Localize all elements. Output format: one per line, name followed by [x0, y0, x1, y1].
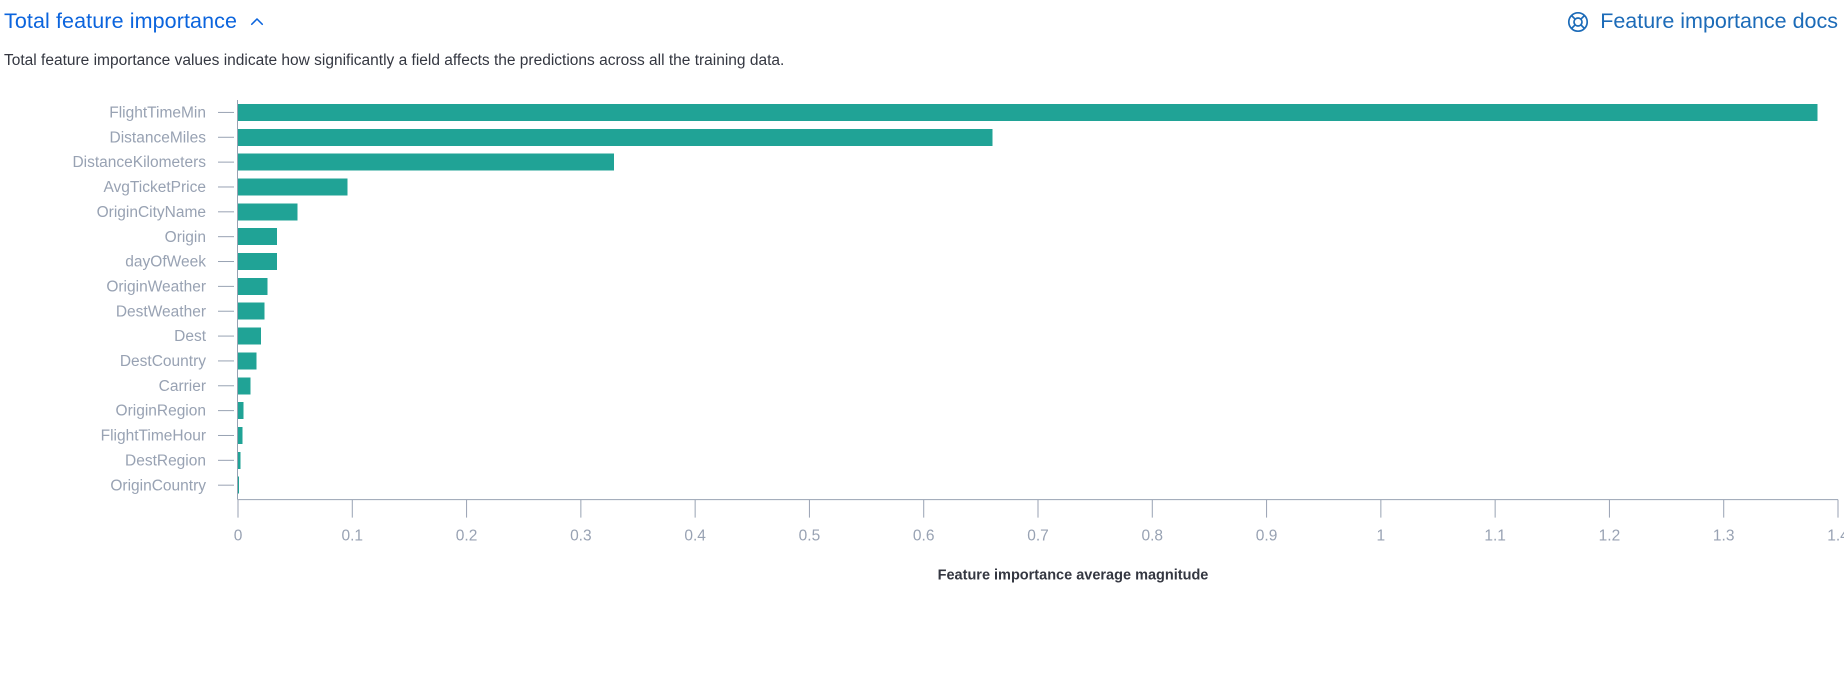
bar-distancemiles[interactable] — [238, 128, 992, 145]
bar-originweather[interactable] — [238, 278, 268, 295]
bar-destcountry[interactable] — [238, 352, 256, 369]
x-axis-tick-1.1: 1.1 — [1484, 527, 1506, 544]
bar-destregion[interactable] — [238, 452, 240, 469]
y-axis-label-avgticketprice: AvgTicketPrice — [103, 179, 206, 196]
bar-originregion[interactable] — [238, 402, 244, 419]
x-axis-tick-1: 1 — [1377, 527, 1386, 544]
x-axis-tick-0.8: 0.8 — [1142, 527, 1164, 544]
feature-importance-chart: FlightTimeMinDistanceMilesDistanceKilome… — [0, 90, 1844, 670]
x-axis-tick-0.1: 0.1 — [342, 527, 364, 544]
x-axis-tick-0.9: 0.9 — [1256, 527, 1278, 544]
y-axis-label-destregion: DestRegion — [125, 452, 206, 469]
x-axis-tick-0.4: 0.4 — [684, 527, 706, 544]
x-axis-title: Feature importance average magnitude — [938, 567, 1209, 583]
chevron-up-icon[interactable] — [248, 13, 266, 31]
bar-flighttimehour[interactable] — [238, 427, 243, 444]
bar-distancekilometers[interactable] — [238, 153, 614, 170]
bar-chart-svg: FlightTimeMinDistanceMilesDistanceKilome… — [0, 90, 1844, 670]
bar-dest[interactable] — [238, 327, 261, 344]
bar-origincountry[interactable] — [238, 476, 239, 493]
total-feature-importance-panel: Total feature importance Feature importa… — [0, 0, 1844, 680]
panel-title-toggle[interactable]: Total feature importance — [4, 9, 266, 35]
x-axis-tick-1.4: 1.4 — [1827, 527, 1844, 544]
y-axis-label-origincityname: OriginCityName — [97, 204, 206, 221]
y-axis-label-origin: Origin — [165, 228, 206, 245]
docs-link-label: Feature importance docs — [1600, 9, 1838, 35]
panel-header: Total feature importance Feature importa… — [0, 0, 1844, 38]
page-title: Total feature importance — [4, 9, 237, 35]
x-axis-tick-0.7: 0.7 — [1027, 527, 1049, 544]
x-axis-tick-0.6: 0.6 — [913, 527, 935, 544]
x-axis-tick-1.2: 1.2 — [1599, 527, 1621, 544]
x-axis-tick-1.3: 1.3 — [1713, 527, 1735, 544]
x-axis-tick-0.5: 0.5 — [799, 527, 821, 544]
y-axis-label-dest: Dest — [174, 328, 207, 345]
y-axis-label-originweather: OriginWeather — [106, 278, 206, 295]
y-axis-label-flighttimemin: FlightTimeMin — [109, 104, 206, 121]
y-axis-label-carrier: Carrier — [159, 378, 206, 395]
y-axis-label-destcountry: DestCountry — [120, 353, 206, 370]
x-axis-tick-0.2: 0.2 — [456, 527, 478, 544]
bar-avgticketprice[interactable] — [238, 178, 348, 195]
y-axis-label-destweather: DestWeather — [116, 303, 206, 320]
bar-flighttimemin[interactable] — [238, 104, 1817, 121]
feature-importance-docs-link[interactable]: Feature importance docs — [1566, 9, 1840, 35]
bar-carrier[interactable] — [238, 377, 251, 394]
panel-description: Total feature importance values indicate… — [0, 38, 1844, 72]
y-axis-label-originregion: OriginRegion — [116, 402, 206, 419]
bar-origin[interactable] — [238, 228, 277, 245]
bar-dayofweek[interactable] — [238, 253, 277, 270]
y-axis-label-origincountry: OriginCountry — [110, 477, 206, 494]
help-lifebuoy-icon — [1566, 10, 1590, 34]
bar-destweather[interactable] — [238, 302, 264, 319]
bar-origincityname[interactable] — [238, 203, 297, 220]
y-axis-label-dayofweek: dayOfWeek — [125, 253, 206, 270]
y-axis-label-distancekilometers: DistanceKilometers — [72, 154, 206, 171]
y-axis-label-flighttimehour: FlightTimeHour — [101, 427, 206, 444]
y-axis-label-distancemiles: DistanceMiles — [110, 129, 207, 146]
x-axis-tick-0.3: 0.3 — [570, 527, 592, 544]
x-axis-tick-0: 0 — [234, 527, 243, 544]
